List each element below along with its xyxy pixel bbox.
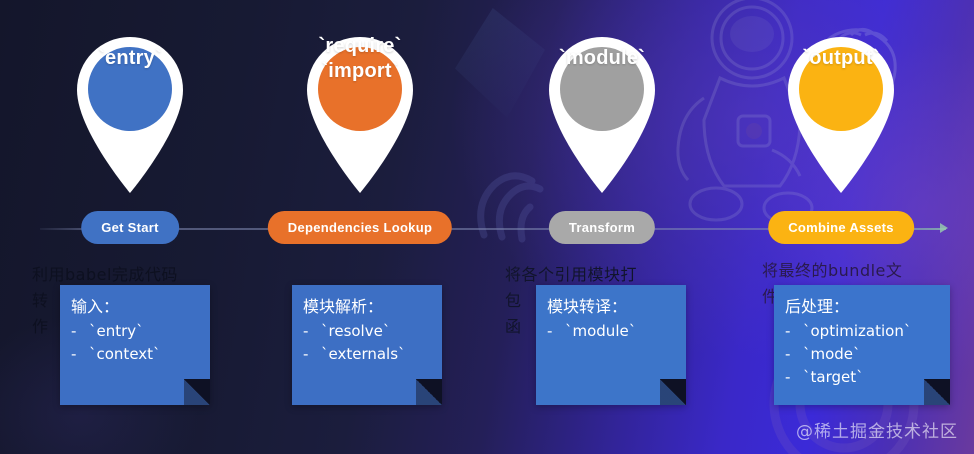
sticky-note-entry: 输入： -`entry` -`context` bbox=[60, 285, 210, 405]
note-item-list: -`module` bbox=[547, 320, 677, 343]
map-pin-icon-entry[interactable] bbox=[65, 26, 195, 194]
map-pin-icon-dependencies[interactable] bbox=[295, 26, 425, 194]
sticky-note-transform: 模块转译： -`module` bbox=[536, 285, 686, 405]
sticky-note-dependencies: 模块解析： -`resolve` -`externals` bbox=[292, 285, 442, 405]
note-item-list: -`resolve` -`externals` bbox=[303, 320, 433, 366]
note-title: 输入： bbox=[71, 295, 201, 319]
note-item: -`mode` bbox=[785, 343, 941, 366]
note-fold-corner bbox=[660, 379, 686, 405]
note-title: 模块转译： bbox=[547, 295, 677, 319]
note-item: -`resolve` bbox=[303, 320, 433, 343]
note-item: -`optimization` bbox=[785, 320, 941, 343]
note-title: 后处理： bbox=[785, 295, 941, 319]
note-fold-corner bbox=[924, 379, 950, 405]
note-item: -`entry` bbox=[71, 320, 201, 343]
pill-transform[interactable]: Transform bbox=[549, 211, 655, 244]
note-title: 模块解析： bbox=[303, 295, 433, 319]
sticky-note-output: 后处理： -`optimization` -`mode` -`target` bbox=[774, 285, 950, 405]
map-pin-icon-transform[interactable] bbox=[537, 26, 667, 194]
note-item-list: -`entry` -`context` bbox=[71, 320, 201, 366]
pill-combine-assets[interactable]: Combine Assets bbox=[768, 211, 914, 244]
note-fold-corner bbox=[416, 379, 442, 405]
note-item: -`target` bbox=[785, 366, 941, 389]
note-fold-corner bbox=[184, 379, 210, 405]
note-item: -`context` bbox=[71, 343, 201, 366]
pill-get-start[interactable]: Get Start bbox=[81, 211, 179, 244]
diagram-canvas: 利用babel完成代码 转 作 将各个引用模块打 包 函 将最终的bundle文… bbox=[0, 0, 974, 454]
note-item: -`externals` bbox=[303, 343, 433, 366]
note-item-list: -`optimization` -`mode` -`target` bbox=[785, 320, 941, 389]
map-pin-icon-output[interactable] bbox=[776, 26, 906, 194]
pill-dependencies-lookup[interactable]: Dependencies Lookup bbox=[268, 211, 452, 244]
note-item: -`module` bbox=[547, 320, 677, 343]
